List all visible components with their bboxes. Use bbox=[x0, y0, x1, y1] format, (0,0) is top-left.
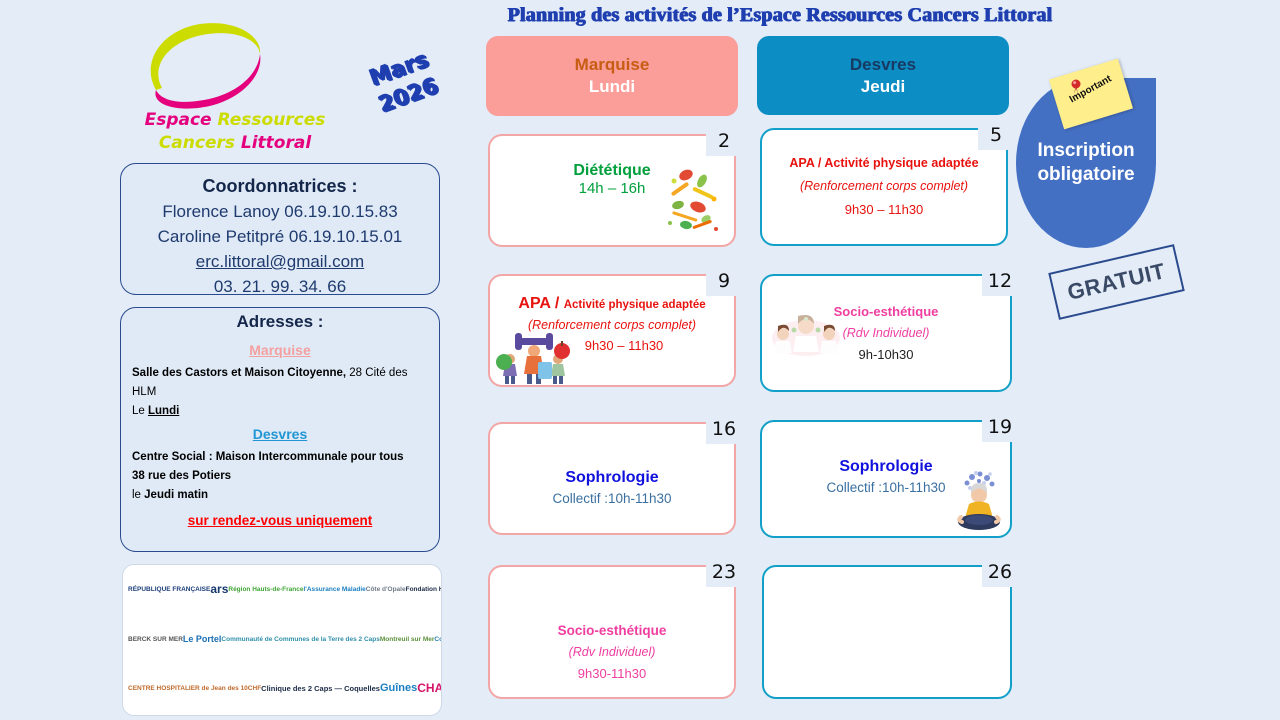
event-time: 14h – 16h bbox=[490, 180, 734, 197]
coordinator-1: Florence Lanoy 06.19.10.15.83 bbox=[121, 199, 439, 224]
partner-logo: BERCK SUR MER bbox=[128, 636, 183, 644]
logo-word-ressources: Ressources bbox=[218, 110, 326, 130]
addresses-box: Adresses : Marquise Salle des Castors et… bbox=[120, 307, 440, 552]
partner-logo: Clinique des 2 Caps — Coquelles bbox=[261, 685, 380, 693]
partner-row: CENTRE HOSPITALIER de Jean des 10CHF Cli… bbox=[123, 664, 441, 714]
event-title: Diététique bbox=[490, 146, 734, 180]
address-desvres-day-value: Jeudi matin bbox=[144, 489, 208, 501]
partner-logo: RÉPUBLIQUE FRANÇAISE bbox=[128, 586, 210, 594]
event-title-abbrev: APA / bbox=[518, 295, 559, 312]
address-desvres-venue-bold: Centre Social : Maison Intercommunale po… bbox=[132, 451, 404, 463]
event-time: 9h30 – 11h30 bbox=[490, 334, 734, 354]
event-card-body: Socio-esthétique (Rdv Individuel) 9h-10h… bbox=[762, 276, 1010, 363]
partner-logo: Communauté de Communes de la Région d'Au… bbox=[434, 636, 442, 644]
address-marquise-day-prefix: Le bbox=[132, 405, 148, 417]
event-time: Collectif :10h-11h30 bbox=[490, 487, 734, 507]
partner-logos-strip: RÉPUBLIQUE FRANÇAISE ars Région Hauts-de… bbox=[122, 564, 442, 716]
address-marquise-day: Le Lundi bbox=[132, 402, 428, 421]
address-marquise-venue: Salle des Castors et Maison Citoyenne, 2… bbox=[132, 364, 428, 402]
event-card-body: Socio-esthétique (Rdv Individuel) 9h30-1… bbox=[490, 567, 734, 682]
event-time: 9h30 – 11h30 bbox=[762, 195, 1006, 218]
address-marquise-day-value: Lundi bbox=[148, 405, 179, 417]
event-subtitle: (Renforcement corps complet) bbox=[762, 172, 1006, 195]
event-title: Socio-esthétique bbox=[490, 577, 734, 640]
partner-logo: Guînes bbox=[380, 685, 417, 693]
column-city-marquise: Marquise bbox=[486, 54, 738, 76]
event-time: 9h30-11h30 bbox=[490, 661, 734, 682]
partner-logo: Fondation HOPALE bbox=[406, 586, 442, 594]
event-title: APA / Activité physique adaptée bbox=[490, 286, 734, 314]
column-day-jeudi: Jeudi bbox=[757, 76, 1009, 98]
coordinators-box: Coordonnatrices : Florence Lanoy 06.19.1… bbox=[120, 163, 440, 295]
event-title: Socio-esthétique bbox=[762, 286, 1010, 321]
partner-logo: CHAM bbox=[417, 685, 442, 693]
partner-logo: ars bbox=[210, 586, 228, 594]
partner-logo: Côte d'Opale bbox=[366, 586, 406, 594]
event-card[interactable]: 26 bbox=[762, 565, 1012, 699]
address-marquise-venue-bold: Salle des Castors et Maison Citoyenne, bbox=[132, 367, 346, 379]
appointment-note: sur rendez-vous uniquement bbox=[132, 511, 428, 530]
page-title: Planning des activités de l’Espace Resso… bbox=[380, 4, 1180, 27]
event-card[interactable]: 5 APA / Activité physique adaptée (Renfo… bbox=[760, 128, 1008, 246]
event-card-body: APA / Activité physique adaptée (Renforc… bbox=[762, 130, 1006, 218]
partner-logo: Le Portel bbox=[183, 636, 222, 644]
event-subtitle: (Rdv Individuel) bbox=[762, 321, 1010, 342]
address-city-desvres: Desvres bbox=[132, 425, 428, 444]
address-desvres-street-value: 38 rue des Potiers bbox=[132, 470, 231, 482]
address-desvres-day-prefix: le bbox=[132, 489, 144, 501]
event-card-body: Diététique 14h – 16h bbox=[490, 136, 734, 197]
column-city-desvres: Desvres bbox=[757, 54, 1009, 76]
address-desvres-day: le Jeudi matin bbox=[132, 486, 428, 505]
event-card[interactable]: 23 Socio-esthétique (Rdv Individuel) 9h3… bbox=[488, 565, 736, 699]
inscription-line-2: obligatoire bbox=[1037, 163, 1134, 187]
coordinators-heading: Coordonnatrices : bbox=[121, 174, 439, 199]
logo-word-espace: Espace bbox=[145, 110, 218, 130]
logo-line-1: Espace Ressources bbox=[120, 110, 350, 130]
event-time: 9h-10h30 bbox=[762, 342, 1010, 363]
push-pin-icon bbox=[1069, 79, 1083, 95]
partner-logo: l'Assurance Maladie bbox=[304, 586, 366, 594]
partner-logo: Communauté de Communes de la Terre des 2… bbox=[221, 636, 379, 644]
coordinator-2: Caroline Petitpré 06.19.10.15.01 bbox=[121, 224, 439, 249]
logo-word-littoral: Littoral bbox=[241, 133, 311, 153]
event-title-full: Activité physique adaptée bbox=[564, 299, 706, 311]
event-card-body: APA / Activité physique adaptée (Renforc… bbox=[490, 276, 734, 354]
event-card[interactable]: 9 APA / Activité physique adapt bbox=[488, 274, 736, 387]
column-header-marquise: Marquise Lundi bbox=[486, 36, 738, 116]
contact-phone: 03. 21. 99. 34. 66 bbox=[121, 274, 439, 299]
event-card[interactable]: 19 Sophrologie Collectif :10h-11h30 bbox=[760, 420, 1012, 538]
partner-logo: Région Hauts-de-France bbox=[228, 586, 303, 594]
inscription-line-1: Inscription bbox=[1037, 139, 1134, 163]
event-title: Sophrologie bbox=[490, 434, 734, 487]
logo-line-2: Cancers Littoral bbox=[120, 133, 350, 153]
event-subtitle: (Rdv Individuel) bbox=[490, 640, 734, 661]
logo-word-cancers: Cancers bbox=[159, 133, 241, 153]
event-card[interactable]: 16 Sophrologie Collectif :10h-11h30 bbox=[488, 422, 736, 535]
event-card-body: Sophrologie Collectif :10h-11h30 bbox=[762, 422, 1010, 496]
partner-logo: CENTRE HOSPITALIER de Jean des 10CHF bbox=[128, 685, 261, 693]
event-title: APA / Activité physique adaptée bbox=[762, 140, 1006, 172]
partner-row: BERCK SUR MER Le Portel Communauté de Co… bbox=[123, 615, 441, 665]
gratuit-badge-text: GRATUIT bbox=[1065, 258, 1168, 306]
addresses-heading: Adresses : bbox=[132, 312, 428, 331]
contact-email[interactable]: erc.littoral@gmail.com bbox=[121, 249, 439, 274]
address-city-marquise: Marquise bbox=[132, 341, 428, 360]
partner-logo: Montreuil sur Mer bbox=[380, 636, 435, 644]
event-card[interactable]: 12 Socio-esthétique (Rdv Individuel) 9h-… bbox=[760, 274, 1012, 392]
column-day-lundi: Lundi bbox=[486, 76, 738, 98]
address-desvres-venue: Centre Social : Maison Intercommunale po… bbox=[132, 448, 428, 467]
event-card-body bbox=[764, 567, 1010, 577]
event-time: Collectif :10h-11h30 bbox=[762, 476, 1010, 496]
month-year-label: Mars 2026 bbox=[343, 38, 470, 141]
event-title: Sophrologie bbox=[762, 432, 1010, 476]
event-subtitle: (Renforcement corps complet) bbox=[490, 314, 734, 334]
gratuit-badge: GRATUIT bbox=[1048, 244, 1184, 320]
column-header-desvres: Desvres Jeudi bbox=[757, 36, 1009, 115]
partner-row: RÉPUBLIQUE FRANÇAISE ars Région Hauts-de… bbox=[123, 565, 441, 615]
organization-logo: Espace Ressources Cancers Littoral bbox=[110, 18, 360, 148]
event-card[interactable]: 2 Diététique 14h – 16h bbox=[488, 134, 736, 247]
address-desvres-street: 38 rue des Potiers bbox=[132, 467, 428, 486]
inscription-badge-text: Inscription obligatoire bbox=[1037, 139, 1134, 187]
event-card-body: Sophrologie Collectif :10h-11h30 bbox=[490, 424, 734, 507]
logo-ring-icon bbox=[138, 18, 268, 113]
